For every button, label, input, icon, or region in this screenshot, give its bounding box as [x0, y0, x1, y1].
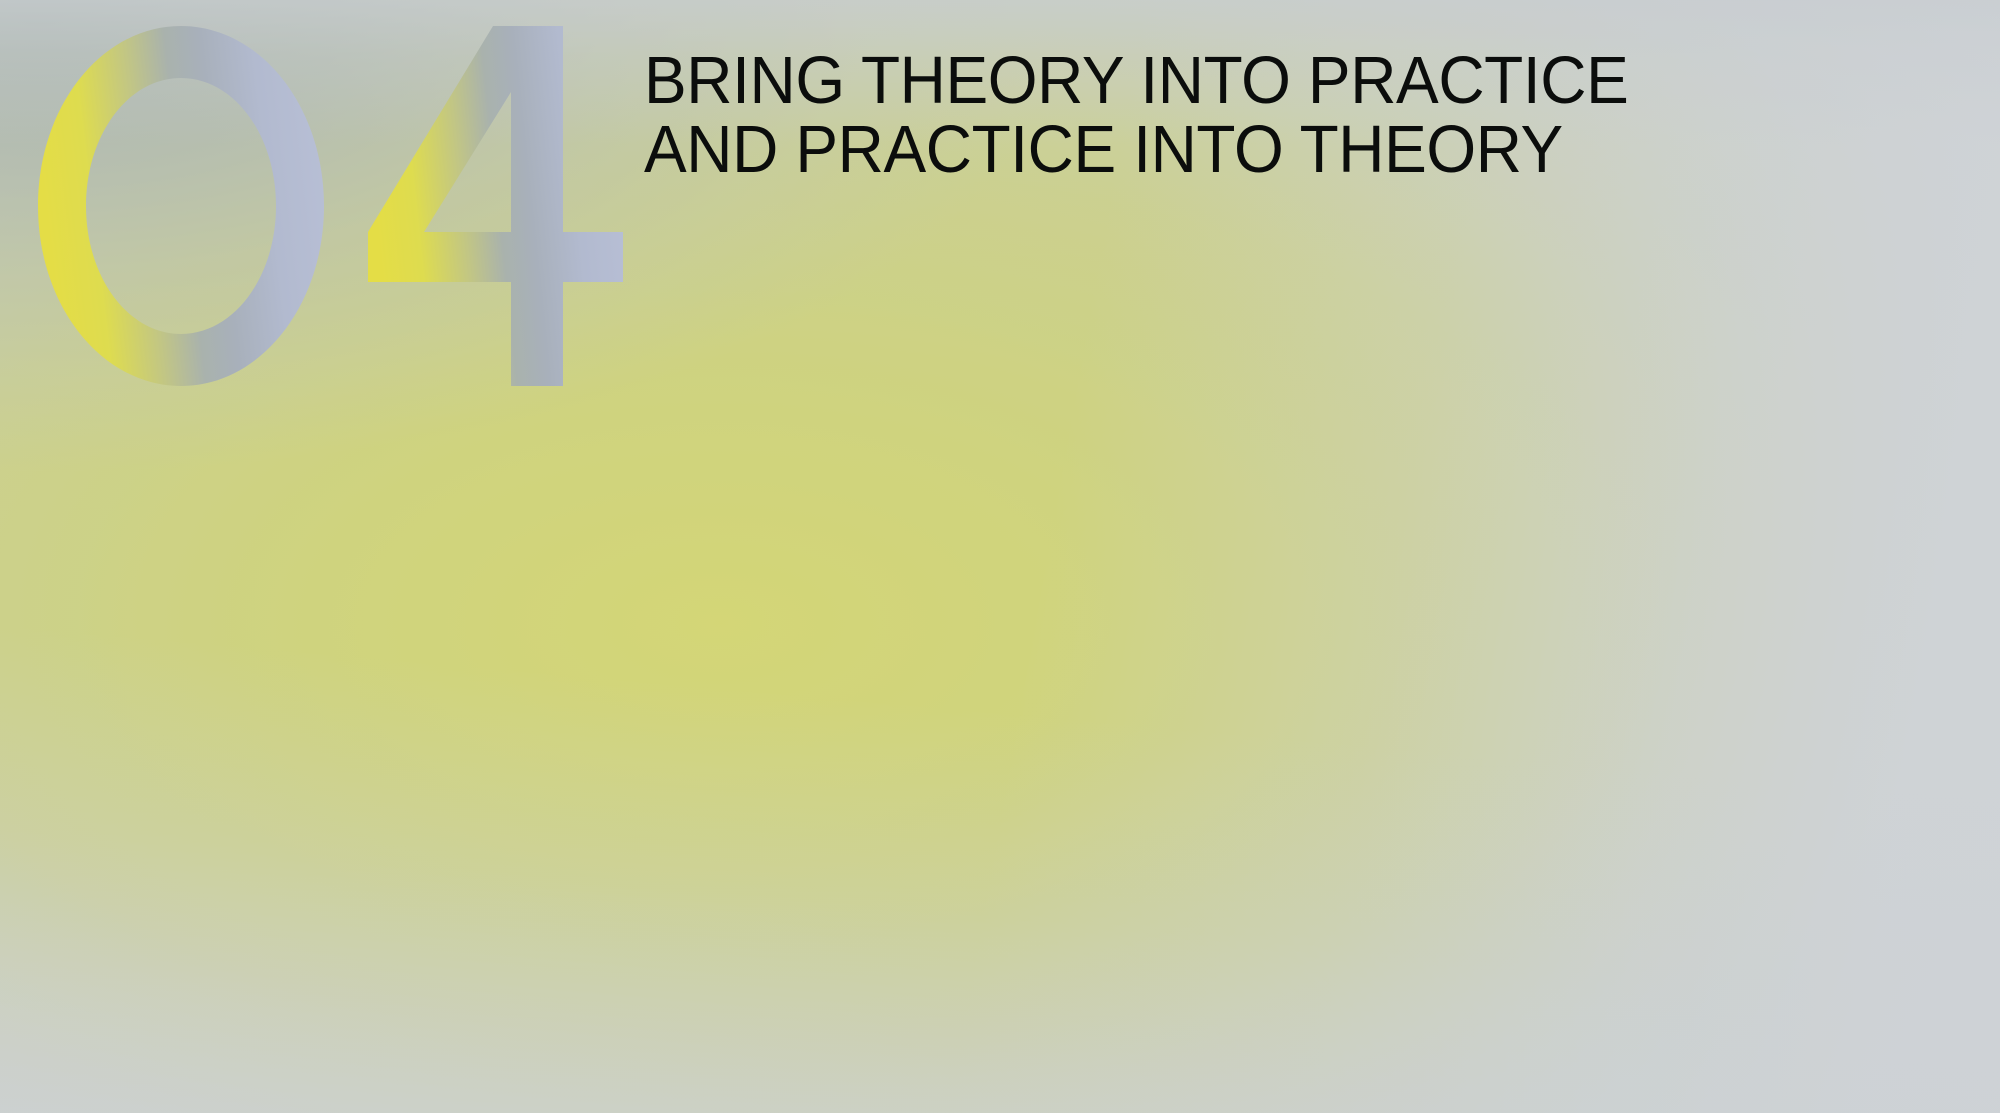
headline-line-2: AND PRACTICE INTO THEORY — [644, 115, 1886, 184]
headline-line-1: BRING THEORY INTO PRACTICE — [644, 46, 1886, 115]
slide-number-svg — [38, 26, 638, 386]
slide-number-digit-four — [368, 26, 623, 386]
slide-number-graphic — [38, 26, 638, 386]
slide-headline: BRING THEORY INTO PRACTICE AND PRACTICE … — [644, 46, 1886, 184]
slide-number-digit-zero — [38, 26, 324, 386]
slide-canvas: BRING THEORY INTO PRACTICE AND PRACTICE … — [0, 0, 2000, 1113]
